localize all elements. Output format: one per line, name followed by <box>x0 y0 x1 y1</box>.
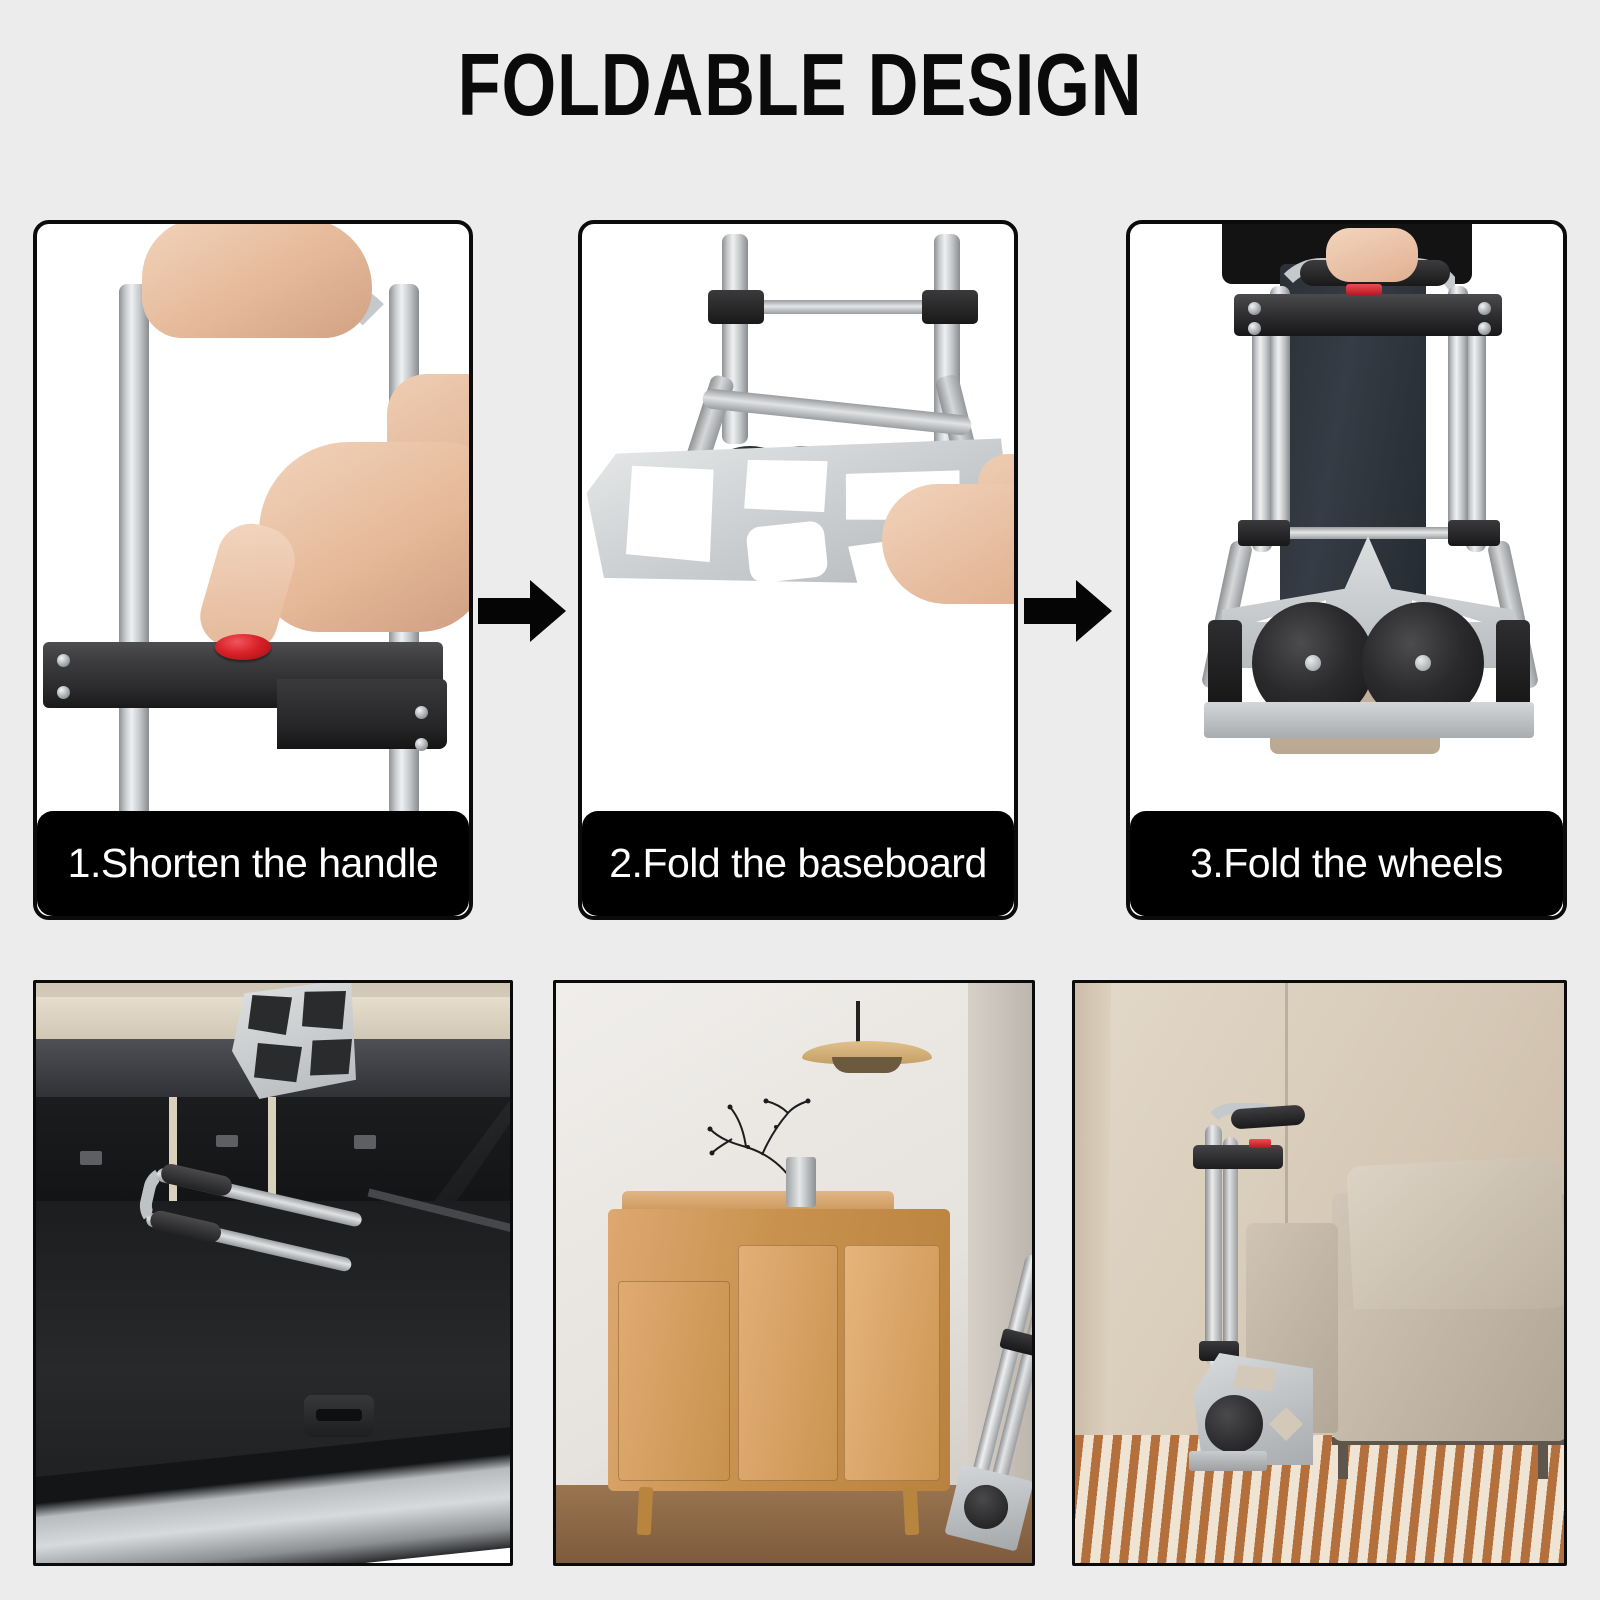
handle-grip <box>1230 1104 1305 1129</box>
pendant-lamp-cage <box>832 1057 902 1073</box>
seat-latch <box>80 1151 102 1165</box>
step-panel-2: 2.Fold the baseboard <box>578 220 1018 920</box>
baseboard-cutout <box>254 1043 302 1083</box>
rivet <box>1478 322 1491 335</box>
black-crossbar <box>1234 294 1502 336</box>
cabinet-leg <box>903 1487 919 1536</box>
arrow-right-icon <box>1024 578 1112 644</box>
red-release-button[interactable] <box>1249 1139 1271 1148</box>
step-1-caption: 1.Shorten the handle <box>37 811 469 916</box>
rivet <box>415 738 428 751</box>
seat-latch <box>354 1135 376 1149</box>
cabinet-leg <box>637 1487 653 1536</box>
clamp-right <box>922 290 978 324</box>
cabinet-door[interactable] <box>738 1245 838 1481</box>
lifestyle-panel-entryway-cabinet <box>553 980 1035 1566</box>
rivet <box>57 686 70 699</box>
seat-latch <box>216 1135 238 1147</box>
lifestyle-panel-car-trunk <box>33 980 513 1566</box>
hand-gripping-handle <box>142 224 372 338</box>
red-release-button[interactable] <box>215 634 271 660</box>
step-3-caption: 3.Fold the wheels <box>1130 811 1563 916</box>
baseboard-cutout <box>302 991 346 1031</box>
red-release-button[interactable] <box>1346 284 1382 295</box>
baseboard-cutout <box>310 1039 352 1077</box>
sofa-seat <box>1332 1309 1564 1441</box>
baseboard-cutout <box>617 457 723 570</box>
handle-grip <box>148 1209 223 1245</box>
baseboard-cutout <box>1233 1365 1277 1391</box>
cross-axle <box>758 300 928 314</box>
step-panel-1: 1.Shorten the handle <box>33 220 473 920</box>
hand-pressing <box>259 442 469 632</box>
base-foot-bar <box>1204 702 1534 738</box>
metal-vase <box>786 1157 816 1207</box>
baseboard-cutout <box>745 520 828 584</box>
floor-latch-handle <box>304 1395 374 1437</box>
step-2-caption: 2.Fold the baseboard <box>582 811 1014 916</box>
cabinet-door[interactable] <box>618 1281 730 1481</box>
sofa-cushion <box>1346 1156 1564 1319</box>
entryway-photo <box>556 983 1032 1563</box>
page-title: FOLDABLE DESIGN <box>160 34 1440 136</box>
rivet <box>57 654 70 667</box>
rivet <box>1248 302 1261 315</box>
step-panel-3: 3.Fold the wheels <box>1126 220 1567 920</box>
clamp-left <box>1238 520 1290 546</box>
rivet <box>1478 302 1491 315</box>
clamp-left <box>708 290 764 324</box>
frame-tube-left <box>722 234 748 444</box>
folded-hand-truck <box>1187 1103 1327 1471</box>
arrow-right-icon <box>478 578 566 644</box>
rivet <box>415 706 428 719</box>
wheel <box>1205 1395 1263 1453</box>
frame-post-left-outer <box>1252 302 1272 552</box>
hand-folding-baseboard <box>882 484 1014 604</box>
rivet <box>1248 322 1261 335</box>
car-trunk-photo <box>36 983 510 1563</box>
frame-post <box>1223 1137 1238 1367</box>
base-foot-bar <box>1189 1451 1267 1471</box>
handle-grip <box>159 1162 234 1198</box>
hand-carrying <box>1326 228 1418 282</box>
frame-post-right-outer <box>1466 302 1486 552</box>
baseboard-cutout <box>248 995 292 1035</box>
cabinet-door[interactable] <box>844 1245 940 1481</box>
living-room-photo <box>1075 983 1564 1563</box>
pendant-cord <box>856 1001 860 1043</box>
cabinet-top-rail <box>622 1191 894 1211</box>
black-crossbar <box>1193 1145 1283 1169</box>
clamp-right <box>1448 520 1500 546</box>
lifestyle-panel-living-room <box>1072 980 1567 1566</box>
